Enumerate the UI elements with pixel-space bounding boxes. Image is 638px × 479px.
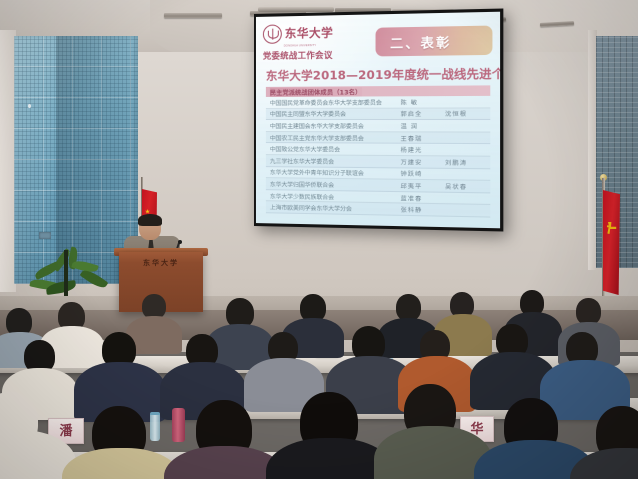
audience-area: 潘 华 (0, 280, 638, 479)
screen-mount-bracket (258, 7, 334, 12)
audience-head (576, 298, 601, 325)
slide-row-org: 中国致公党东华大学委员会 (270, 144, 401, 154)
slide-row-org: 东华大学归国华侨联合会 (270, 179, 401, 190)
presentation-slide: 东华大学 DONGHUA UNIVERSITY 党委统战工作会议 二、表彰 东华… (256, 12, 500, 229)
water-bottle (150, 412, 160, 441)
pink-thermos (172, 408, 185, 442)
podium-text: 东华大学 (132, 258, 190, 268)
slide-table-group-label: 民主党派统战团体成员（13名） (270, 87, 362, 97)
slide-row-name-1: 钟跃崎 (401, 169, 445, 179)
projection-screen: 东华大学 DONGHUA UNIVERSITY 党委统战工作会议 二、表彰 东华… (254, 8, 503, 231)
slide-row-name-2: 沈恒根 (445, 109, 467, 118)
university-name-en: DONGHUA UNIVERSITY (284, 43, 360, 47)
slide-row-org: 东华大学少数民族联合会 (270, 191, 401, 202)
slide-row-name-1: 王春瑞 (401, 133, 445, 142)
slide-row-name-2: 吴状春 (445, 181, 467, 191)
slide-row-name-1: 张科静 (401, 205, 445, 215)
slide-table-row: 上海市欧美同学会东华大学分会张科静 (266, 202, 490, 218)
slide-row-name-1: 郭启全 (401, 109, 445, 118)
university-seal-icon (263, 24, 282, 43)
slide-row-name-1: 万建安 (401, 157, 445, 167)
acoustic-panel-left (14, 36, 138, 284)
slide-row-name-1: 陈 敏 (401, 97, 445, 106)
conference-photo-scene: 东华大学 DONGHUA UNIVERSITY 党委统战工作会议 二、表彰 东华… (0, 0, 638, 479)
slide-row-org: 九三学社东华大学委员会 (270, 156, 401, 166)
slide-row-org: 中国国民党革命委员会东华大学支部委员会 (270, 97, 401, 107)
slide-table-body: 中国国民党革命委员会东华大学支部委员会陈 敏中国民主同盟东华大学委员会郭启全沈恒… (266, 96, 490, 218)
university-name-cn: 东华大学 (285, 27, 334, 39)
wall-switch-icon[interactable] (39, 232, 51, 239)
slide-row-org: 上海市欧美同学会东华大学分会 (270, 202, 401, 214)
slide-row-name-1: 温 润 (401, 121, 445, 130)
microphone-head-icon (178, 240, 182, 244)
slide-row-name-2: 刘鹏涛 (445, 157, 467, 167)
slide-row-name-1: 杨建光 (401, 145, 445, 155)
slide-row-org: 东华大学党外中青年知识分子联谊会 (270, 168, 401, 179)
speaker-hair (138, 214, 162, 226)
slide-row-org: 中国农工民主党东华大学支部委员会 (270, 133, 401, 143)
audience-head (396, 294, 421, 321)
slide-logo: 东华大学 DONGHUA UNIVERSITY 党委统战工作会议 (263, 23, 360, 62)
slide-section-label: 二、表彰 (390, 31, 451, 52)
slide-table-row: 中国民主同盟东华大学委员会郭启全沈恒根 (266, 108, 490, 120)
slide-title: 东华大学2018—2019年度统一战线先进个人名单 (266, 65, 497, 84)
slide-row-name-1: 邱夷平 (401, 181, 445, 191)
slide-row-org: 中国民主同盟东华大学委员会 (270, 109, 401, 118)
ceiling-vent-icon (164, 13, 222, 18)
meeting-label: 党委统战工作会议 (263, 48, 360, 61)
wall-fixture-icon (28, 104, 31, 108)
slide-table-row: 中国民主建国会东华大学支部委员会温 润 (266, 120, 490, 132)
slide-table: 民主党派统战团体成员（13名） 中国国民党革命委员会东华大学支部委员会陈 敏中国… (266, 85, 490, 217)
slide-row-org: 中国民主建国会东华大学支部委员会 (270, 121, 401, 130)
slide-row-name-1: 蓝准春 (401, 193, 445, 203)
slide-table-row: 中国国民党革命委员会东华大学支部委员会陈 敏 (266, 96, 490, 109)
slide-section-pill: 二、表彰 (376, 26, 493, 57)
name-card-left-text: 潘 (59, 425, 72, 438)
